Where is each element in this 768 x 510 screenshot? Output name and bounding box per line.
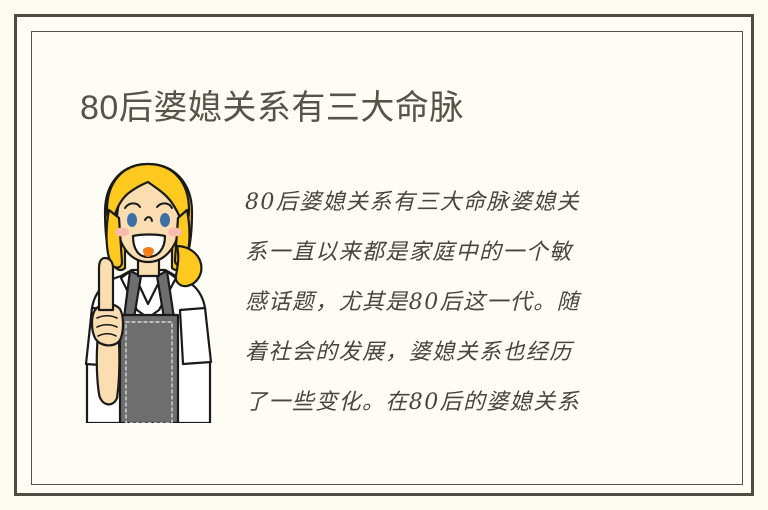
body-line: 了一些变化。在80后的婆媳关系 (245, 378, 675, 428)
article-page: 80后婆媳关系有三大命脉 (0, 0, 768, 510)
body-line: 系一直以来都是家庭中的一个敏 (245, 228, 675, 278)
inner-frame-border: 80后婆媳关系有三大命脉 (31, 31, 743, 485)
body-line: 感话题，尤其是80后这一代。随 (245, 278, 675, 328)
article-body-text: 80后婆媳关系有三大命脉婆媳关 系一直以来都是家庭中的一个敏 感话题，尤其是80… (245, 178, 675, 428)
outer-frame-border: 80后婆媳关系有三大命脉 (14, 14, 754, 496)
body-line: 着社会的发展，婆媳关系也经历 (245, 328, 675, 378)
article-content: 80后婆媳关系有三大命脉 (32, 32, 744, 486)
woman-pointing-illustration (81, 158, 216, 423)
page-title: 80后婆媳关系有三大命脉 (80, 88, 464, 128)
body-line: 80后婆媳关系有三大命脉婆媳关 (245, 178, 675, 228)
